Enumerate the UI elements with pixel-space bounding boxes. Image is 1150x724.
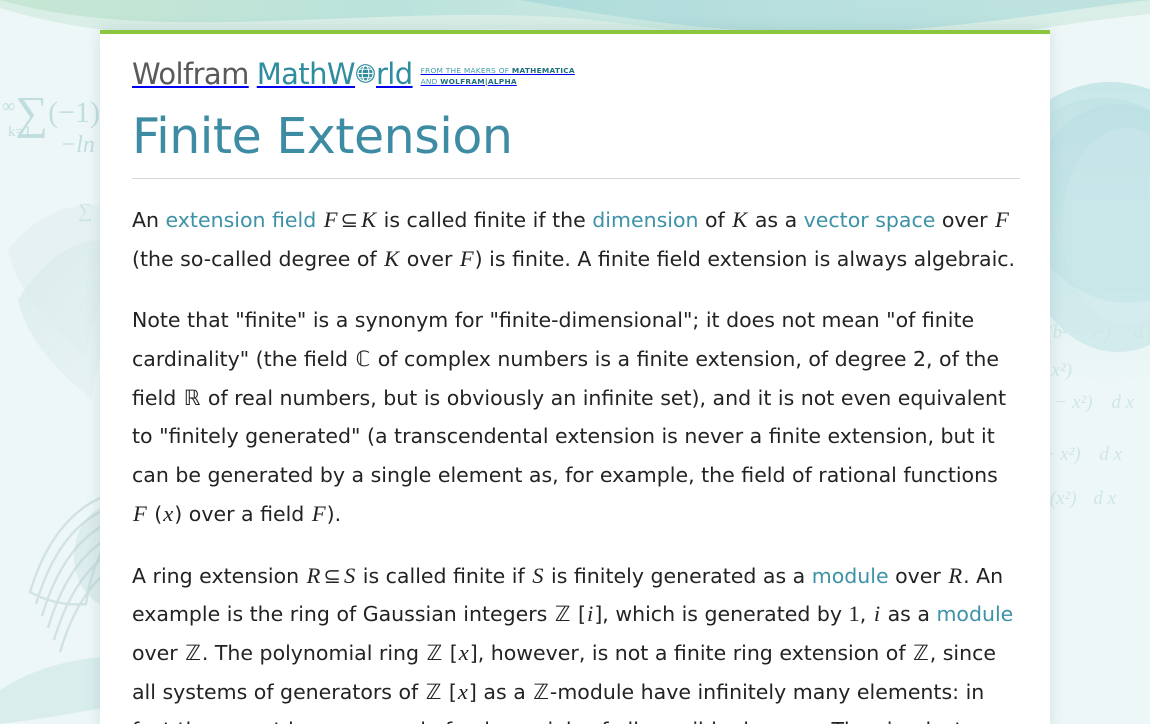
- article-text: ) over a field: [174, 502, 311, 526]
- background-integral-4: (x²) d x: [1050, 488, 1116, 510]
- article-text: over: [935, 208, 994, 232]
- site-logo[interactable]: Wolfram MathW rld From the makers of Mat…: [132, 60, 1018, 94]
- tagline-mathematica: Mathematica: [512, 66, 575, 75]
- article-body: An extension field F⊆K is called finite …: [132, 201, 1018, 724]
- article-text: ).: [327, 502, 342, 526]
- background-integral-1: (b² − x²) d x: [1046, 322, 1150, 344]
- article-page-card: Wolfram MathW rld From the makers of Mat…: [100, 30, 1050, 724]
- article-text: (the so-called degree of: [132, 247, 383, 271]
- tagline-wolfram-alpha: Wolfram|Alpha: [440, 77, 517, 86]
- math-blackboard-symbol: ℤ: [184, 641, 202, 665]
- title-divider: [132, 178, 1020, 179]
- math-variable: F: [311, 501, 327, 526]
- integral-differential-1: d x: [1115, 322, 1150, 343]
- tagline-line-2: and Wolfram|Alpha: [421, 77, 517, 86]
- math-variable: K: [383, 246, 400, 271]
- math-blackboard-symbol: ℤ: [912, 641, 930, 665]
- article-text: ] as a: [469, 680, 532, 704]
- math-variable: F: [459, 246, 475, 271]
- math-blackboard-symbol: ℤ: [554, 602, 572, 626]
- article-text: (: [148, 502, 163, 526]
- globe-icon: [355, 63, 376, 84]
- article-text: of real numbers, but is obviously an inf…: [132, 386, 1006, 487]
- math-blackboard-symbol: ℤ: [426, 641, 444, 665]
- article-text: is finitely generated as a: [544, 564, 811, 588]
- article-text: A ring extension: [132, 564, 306, 588]
- math-variable: i: [873, 601, 881, 626]
- logo-math-text: Math: [257, 60, 327, 89]
- math-number: 1: [849, 601, 860, 626]
- math-variable: K: [731, 207, 748, 232]
- tagline-prefix-2: and: [421, 77, 441, 86]
- math-variable: S: [531, 563, 544, 588]
- math-operator: ⊆: [339, 208, 361, 232]
- article-text: [: [443, 641, 458, 665]
- article-text: over: [132, 641, 184, 665]
- article-text: ], which is generated by: [594, 602, 848, 626]
- page-title: Finite Extension: [132, 110, 1018, 164]
- math-variable: R: [306, 563, 322, 588]
- logo-mathworld-word: MathW rld: [257, 60, 413, 89]
- tagline-line-1: From the makers of Mathematica: [421, 66, 575, 75]
- math-blackboard-symbol: ℂ: [355, 347, 372, 371]
- article-text: An: [132, 208, 166, 232]
- math-variable: x: [457, 679, 469, 704]
- integral-denominator-1: (b² − x²): [1046, 322, 1110, 343]
- article-paragraph: An extension field F⊆K is called finite …: [132, 201, 1018, 278]
- math-variable: F: [132, 501, 148, 526]
- article-text: [: [442, 680, 457, 704]
- integral-differential-3: d x: [1085, 444, 1122, 465]
- article-text: [: [572, 602, 587, 626]
- article-text: over: [400, 247, 459, 271]
- math-variable: K: [360, 207, 377, 232]
- article-link[interactable]: extension field: [166, 208, 317, 232]
- logo-wolfram-word: Wolfram: [132, 60, 249, 89]
- article-link[interactable]: module: [936, 602, 1013, 626]
- article-link[interactable]: dimension: [592, 208, 698, 232]
- article-text: ], however, is not a finite ring extensi…: [470, 641, 912, 665]
- article-text: of: [698, 208, 731, 232]
- article-text: as a: [748, 208, 803, 232]
- article-text: ) is finite. A finite field extension is…: [475, 247, 1015, 271]
- tagline-prefix-1: From the makers of: [421, 66, 512, 75]
- article-text: as a: [881, 602, 936, 626]
- math-variable: R: [947, 563, 963, 588]
- math-operator: ⊆: [321, 564, 343, 588]
- math-variable: F: [994, 207, 1010, 232]
- article-text: over: [889, 564, 948, 588]
- logo-orld-text: rld: [376, 60, 413, 89]
- integral-denominator-4: (x²): [1050, 488, 1077, 509]
- article-text: is called finite if: [356, 564, 531, 588]
- article-text: ,: [860, 602, 873, 626]
- logo-w-text: W: [327, 60, 355, 89]
- article-text: [316, 208, 323, 232]
- logo-tagline: From the makers of Mathematica and Wolfr…: [421, 60, 575, 87]
- integral-differential-2: d x: [1097, 392, 1134, 413]
- article-paragraph: A ring extension R⊆S is called finite if…: [132, 557, 1018, 724]
- article-text: . The polynomial ring: [202, 641, 426, 665]
- background-integral-numerator: x²: [1096, 274, 1110, 296]
- article-link[interactable]: module: [812, 564, 889, 588]
- math-variable: x: [458, 640, 470, 665]
- article-text: is called finite if the: [377, 208, 592, 232]
- math-variable: x: [162, 501, 174, 526]
- math-blackboard-symbol: ℤ: [425, 680, 443, 704]
- math-variable: F: [323, 207, 339, 232]
- math-blackboard-symbol: ℤ: [532, 680, 550, 704]
- math-variable: S: [343, 563, 356, 588]
- math-blackboard-symbol: ℝ: [183, 386, 202, 410]
- article-paragraph: Note that "finite" is a synonym for "fin…: [132, 301, 1018, 533]
- article-link[interactable]: vector space: [804, 208, 936, 232]
- integral-differential-4: d x: [1081, 488, 1116, 509]
